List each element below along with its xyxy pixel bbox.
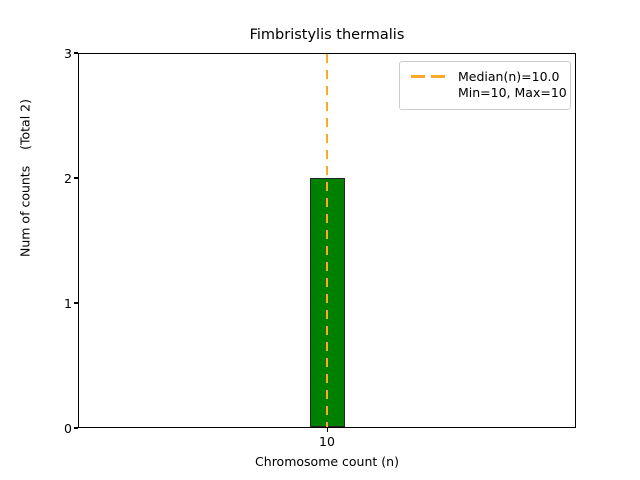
y-tick-mark-3 xyxy=(74,52,78,53)
y-tick-label-2: 2 xyxy=(0,171,72,185)
y-tick-mark-0 xyxy=(74,427,78,428)
legend-entry-text: Median(n)=10.0 Min=10, Max=10 xyxy=(458,69,567,101)
legend-minmax-text: Min=10, Max=10 xyxy=(458,85,567,101)
chart-title: Fimbristylis thermalis xyxy=(78,27,576,43)
y-tick-mark-1 xyxy=(74,302,78,303)
dashed-line-icon xyxy=(409,69,449,85)
x-axis-label: Chromosome count (n) xyxy=(78,454,576,469)
y-tick-label-0: 0 xyxy=(0,421,72,435)
x-tick-label-10: 10 xyxy=(297,434,357,449)
x-tick-mark-10 xyxy=(327,428,328,432)
legend-entry-median: Median(n)=10.0 Min=10, Max=10 xyxy=(409,69,561,101)
legend: Median(n)=10.0 Min=10, Max=10 xyxy=(399,61,571,110)
y-tick-mark-2 xyxy=(74,177,78,178)
y-tick-label-3: 3 xyxy=(0,46,72,60)
y-tick-label-1: 1 xyxy=(0,296,72,310)
legend-median-text: Median(n)=10.0 xyxy=(458,69,559,84)
chart-figure: Fimbristylis thermalis 0 1 2 3 Num of co… xyxy=(0,0,640,480)
